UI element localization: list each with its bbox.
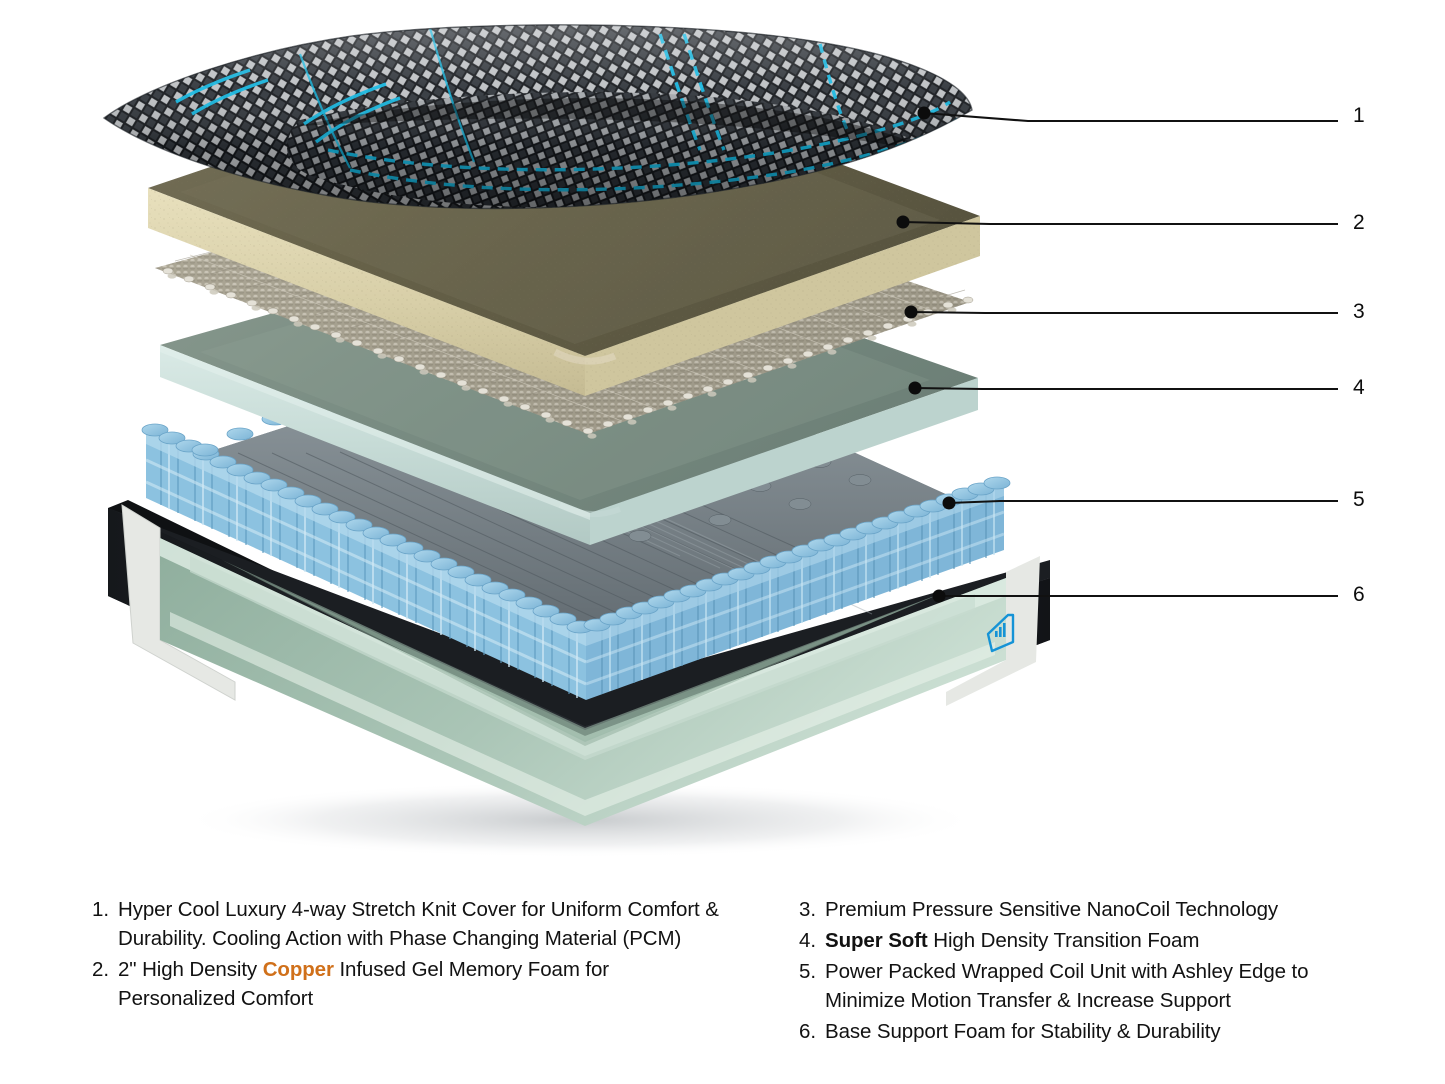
caption-line: Premium Pressure Sensitive NanoCoil Tech… — [825, 895, 1278, 924]
caption-span: Minimize Motion Transfer & Increase Supp… — [825, 989, 1231, 1012]
callout-number-1: 1 — [1353, 105, 1365, 126]
caption-line: Base Support Foam for Stability & Durabi… — [825, 1017, 1221, 1046]
caption-text: Power Packed Wrapped Coil Unit with Ashl… — [825, 957, 1308, 1015]
callout-dot-6 — [933, 590, 946, 603]
caption-column-right: 3.Premium Pressure Sensitive NanoCoil Te… — [795, 895, 1395, 1048]
caption-span: 2" High Density — [118, 958, 263, 981]
caption-text: 2" High Density Copper Infused Gel Memor… — [118, 955, 609, 1013]
caption-number: 4. — [795, 926, 825, 955]
caption-number: 3. — [795, 895, 825, 924]
caption-span: Durability. Cooling Action with Phase Ch… — [118, 927, 681, 950]
caption-span: Hyper Cool Luxury 4-way Stretch Knit Cov… — [118, 898, 719, 921]
caption-span: Power Packed Wrapped Coil Unit with Ashl… — [825, 960, 1308, 983]
leader-line-4 — [915, 388, 1338, 389]
callout-dot-2 — [897, 216, 910, 229]
callout-dot-4 — [909, 382, 922, 395]
caption-number: 6. — [795, 1017, 825, 1046]
caption-span: High Density Transition Foam — [928, 929, 1200, 952]
leader-line-3 — [911, 312, 1338, 313]
caption-text: Hyper Cool Luxury 4-way Stretch Knit Cov… — [118, 895, 719, 953]
caption-span: Premium Pressure Sensitive NanoCoil Tech… — [825, 898, 1278, 921]
caption-item: 3.Premium Pressure Sensitive NanoCoil Te… — [795, 895, 1395, 924]
caption-span: Personalized Comfort — [118, 987, 313, 1010]
callout-number-2: 2 — [1353, 212, 1365, 233]
leader-line-5 — [949, 501, 1338, 503]
caption-line: Personalized Comfort — [118, 984, 609, 1013]
leader-line-1 — [924, 113, 1338, 121]
caption-line: Super Soft High Density Transition Foam — [825, 926, 1199, 955]
caption-item: 6.Base Support Foam for Stability & Dura… — [795, 1017, 1395, 1046]
caption-number: 5. — [795, 957, 825, 986]
callout-dot-1 — [918, 107, 931, 120]
caption-item: 4.Super Soft High Density Transition Foa… — [795, 926, 1395, 955]
caption-line: Durability. Cooling Action with Phase Ch… — [118, 924, 719, 953]
caption-text: Premium Pressure Sensitive NanoCoil Tech… — [825, 895, 1278, 924]
callout-number-3: 3 — [1353, 301, 1365, 322]
callout-number-5: 5 — [1353, 489, 1365, 510]
caption-line: Minimize Motion Transfer & Increase Supp… — [825, 986, 1308, 1015]
caption-span: Infused Gel Memory Foam for — [334, 958, 609, 981]
copper-highlight: Copper — [263, 958, 334, 981]
emphasis-text: Super Soft — [825, 929, 928, 952]
caption-number: 1. — [88, 895, 118, 924]
caption-line: Power Packed Wrapped Coil Unit with Ashl… — [825, 957, 1308, 986]
callout-dot-3 — [905, 306, 918, 319]
callout-number-6: 6 — [1353, 584, 1365, 605]
exploded-mattress-diagram: 1 2 3 4 5 6 — [0, 0, 1445, 880]
caption-item: 2.2" High Density Copper Infused Gel Mem… — [88, 955, 788, 1013]
caption-line: Hyper Cool Luxury 4-way Stretch Knit Cov… — [118, 895, 719, 924]
caption-item: 1.Hyper Cool Luxury 4-way Stretch Knit C… — [88, 895, 788, 953]
callout-number-4: 4 — [1353, 377, 1365, 398]
caption-span: Base Support Foam for Stability & Durabi… — [825, 1020, 1221, 1043]
caption-line: 2" High Density Copper Infused Gel Memor… — [118, 955, 609, 984]
caption-text: Super Soft High Density Transition Foam — [825, 926, 1199, 955]
caption-text: Base Support Foam for Stability & Durabi… — [825, 1017, 1221, 1046]
caption-legend: 1.Hyper Cool Luxury 4-way Stretch Knit C… — [0, 895, 1445, 1084]
callout-dot-5 — [943, 497, 956, 510]
caption-item: 5.Power Packed Wrapped Coil Unit with As… — [795, 957, 1395, 1015]
caption-column-left: 1.Hyper Cool Luxury 4-way Stretch Knit C… — [88, 895, 788, 1015]
caption-number: 2. — [88, 955, 118, 984]
mattress-layer-infographic: 1 2 3 4 5 6 1.Hyper Cool Luxury 4-way St… — [0, 0, 1445, 1084]
